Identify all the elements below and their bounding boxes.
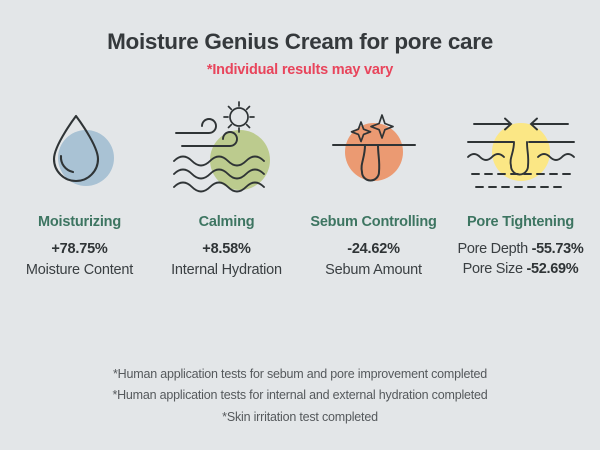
- benefit-metric-stack: Pore Depth -55.73% Pore Size -52.69%: [457, 241, 583, 277]
- footnote-item: *Human application tests for internal an…: [0, 385, 600, 407]
- metric-name: Pore Depth: [457, 241, 527, 257]
- benefit-value: -24.62%: [347, 241, 400, 257]
- benefit-moisturizing: Moisturizing +78.75% Moisture Content: [6, 100, 153, 278]
- infographic-page: Moisture Genius Cream for pore care *Ind…: [0, 0, 600, 450]
- benefit-calming: Calming +8.58% Internal Hydration: [153, 100, 300, 278]
- benefit-label: Sebum Controlling: [310, 214, 436, 230]
- benefit-metric: Internal Hydration: [171, 262, 282, 278]
- metric-name: Pore Size: [463, 261, 523, 277]
- metric-value: -52.69%: [526, 261, 578, 277]
- page-title: Moisture Genius Cream for pore care: [0, 28, 600, 55]
- benefit-sebum-controlling: Sebum Controlling -24.62% Sebum Amount: [300, 100, 447, 278]
- benefits-row: Moisturizing +78.75% Moisture Content: [0, 100, 600, 278]
- benefit-metric: Sebum Amount: [325, 262, 422, 278]
- metric-value: -55.73%: [532, 241, 584, 257]
- pore-sparkle-icon: [309, 100, 439, 200]
- footnote-item: *Skin irritation test completed: [0, 407, 600, 429]
- pore-tightening-icon: [456, 100, 586, 200]
- benefit-label: Pore Tightening: [467, 214, 574, 230]
- header: Moisture Genius Cream for pore care *Ind…: [0, 0, 600, 78]
- benefit-label: Moisturizing: [38, 214, 121, 230]
- sun-wind-waves-icon: [162, 100, 292, 200]
- benefit-value: +8.58%: [202, 241, 250, 257]
- benefit-metric: Moisture Content: [26, 262, 133, 278]
- benefit-pore-tightening: Pore Tightening Pore Depth -55.73% Pore …: [447, 100, 594, 277]
- metric-row: Pore Size -52.69%: [457, 261, 583, 277]
- footnote-item: *Human application tests for sebum and p…: [0, 364, 600, 386]
- benefit-value: +78.75%: [51, 241, 107, 257]
- water-droplet-icon: [15, 100, 145, 200]
- footnotes: *Human application tests for sebum and p…: [0, 364, 600, 429]
- benefit-label: Calming: [199, 214, 255, 230]
- disclaimer-subtitle: *Individual results may vary: [0, 62, 600, 78]
- metric-row: Pore Depth -55.73%: [457, 241, 583, 257]
